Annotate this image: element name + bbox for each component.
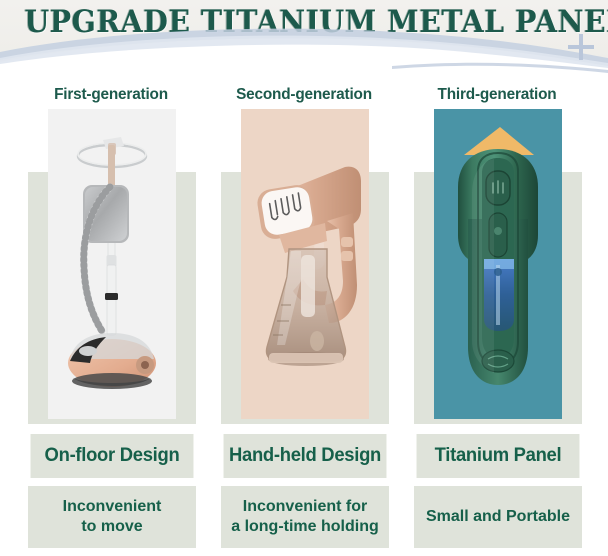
- drawback-line: Inconvenient: [63, 497, 162, 517]
- product-photo-first-generation: [48, 109, 176, 419]
- column-header-first-generation: First-generation: [22, 86, 201, 104]
- wave-ribbon-decoration: [0, 0, 608, 74]
- drawback-line: a long-time holding: [231, 517, 379, 537]
- design-label-second-generation: Hand-held Design: [224, 434, 387, 478]
- standing-garment-steamer-icon: [48, 109, 176, 419]
- drawback-line: Small and Portable: [426, 507, 570, 527]
- drawback-line: to move: [63, 517, 162, 537]
- drawback-label-third-generation: Small and Portable: [414, 486, 582, 548]
- product-photo-third-generation: [434, 109, 562, 419]
- column-header-second-generation: Second-generation: [215, 86, 394, 104]
- design-label-third-generation: Titanium Panel: [417, 434, 580, 478]
- design-label-first-generation: On-floor Design: [31, 434, 194, 478]
- column-first-generation: First-generation: [18, 86, 204, 556]
- drawback-label-second-generation: Inconvenient for a long-time holding: [221, 486, 389, 548]
- column-third-generation: Third-generation: [404, 86, 590, 556]
- drawback-label-first-generation: Inconvenient to move: [28, 486, 196, 548]
- handheld-steamer-large-tank-icon: [241, 109, 369, 419]
- page-header: UPGRADE TITANIUM METAL PANEL: [0, 0, 608, 74]
- column-second-generation: Second-generation: [211, 86, 397, 556]
- drawback-line: Inconvenient for: [231, 497, 379, 517]
- compact-titanium-steamer-icon: [434, 109, 562, 419]
- comparison-columns: First-generation: [0, 86, 608, 556]
- plus-icon: [568, 34, 594, 60]
- column-header-third-generation: Third-generation: [408, 86, 587, 104]
- product-photo-second-generation: [241, 109, 369, 419]
